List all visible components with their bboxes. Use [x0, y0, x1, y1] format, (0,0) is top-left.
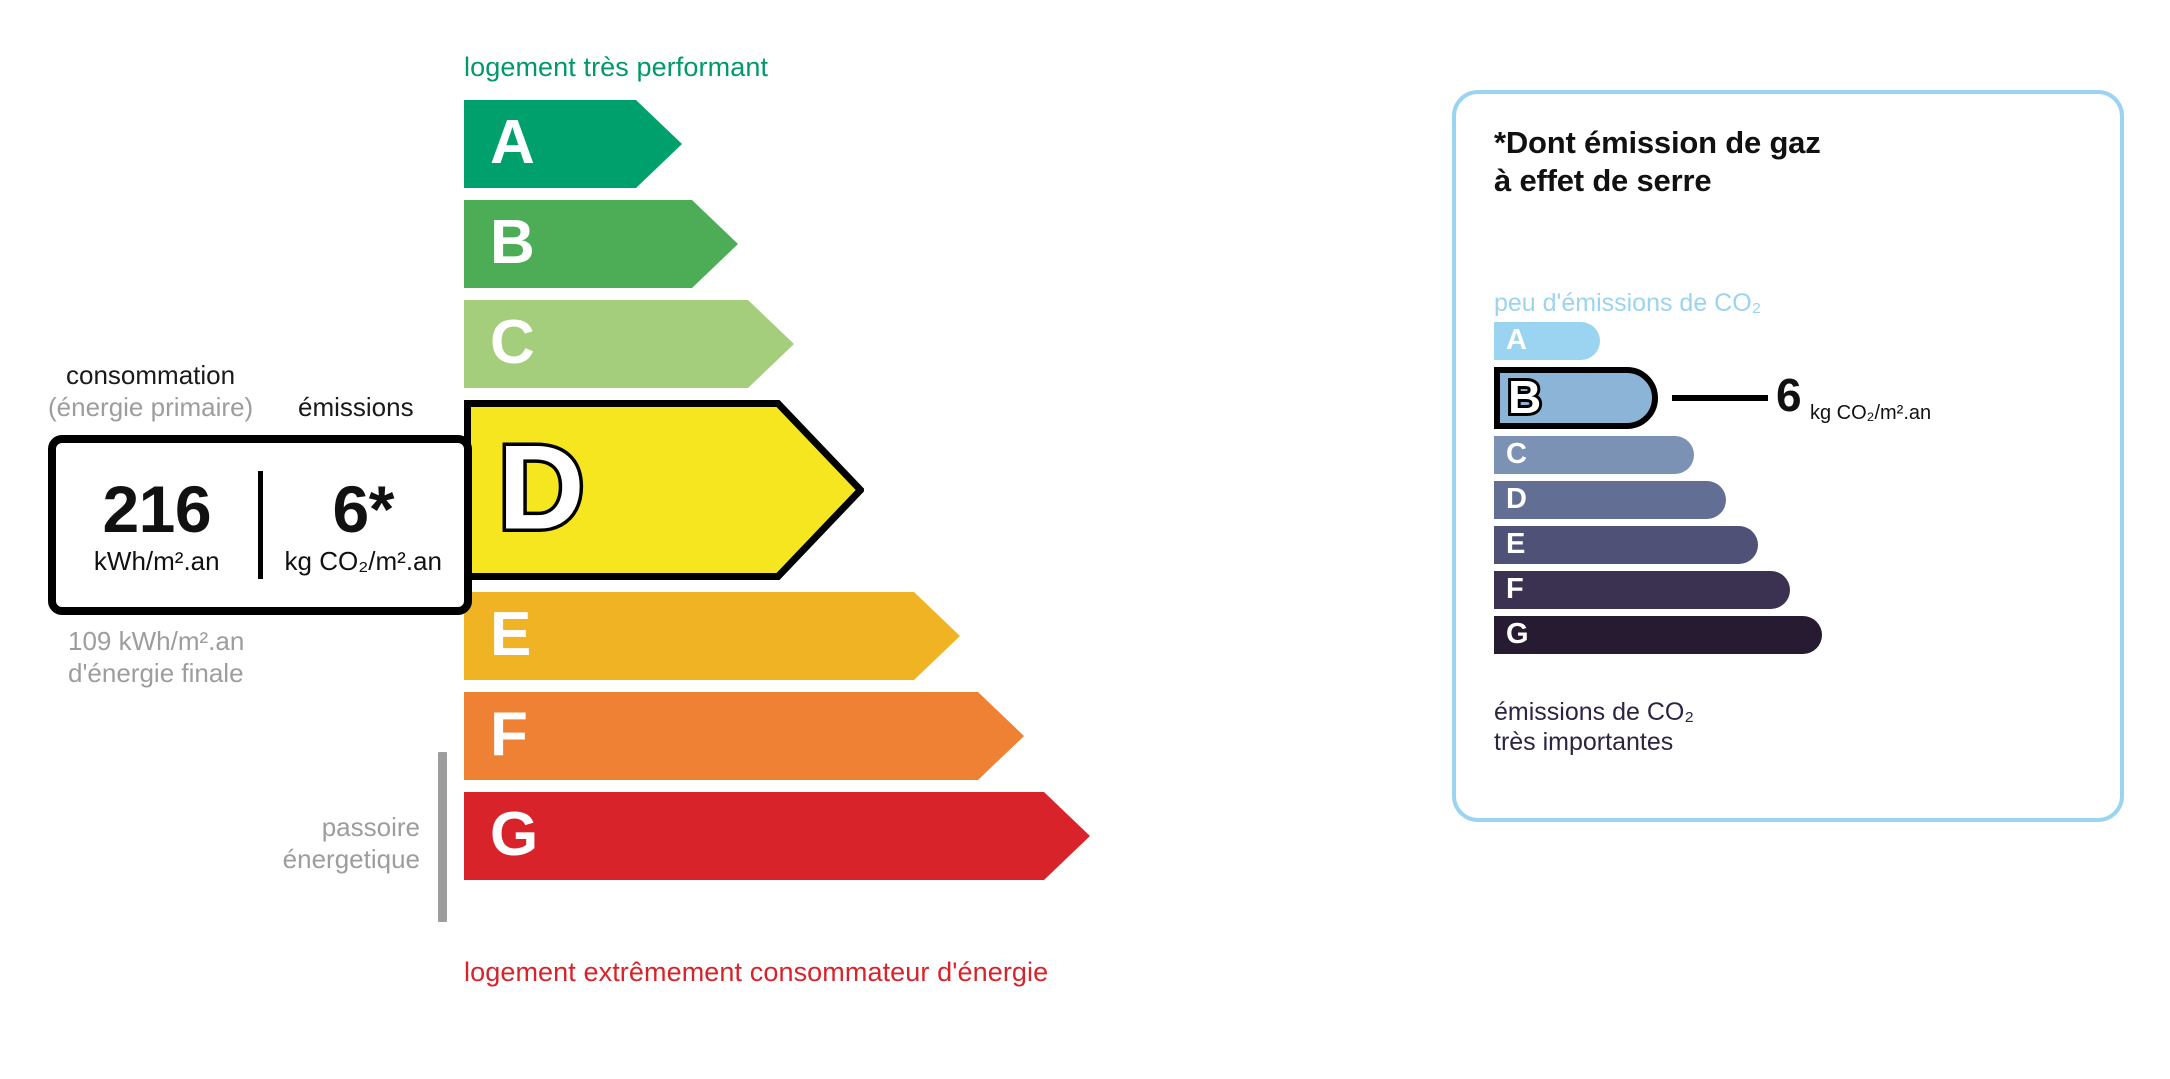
co2-grade-g: G [1494, 616, 1822, 654]
energy-grade-c: C [464, 300, 794, 388]
consumption-label: consommation [66, 360, 235, 391]
energy-bar-e [464, 592, 960, 680]
energy-performance-panel: logement très performant consommation (é… [0, 0, 1400, 1079]
passoire-bracket [438, 752, 447, 922]
energy-grade-b: B [464, 200, 738, 288]
energy-grade-d: D [464, 400, 864, 580]
final-energy-note: 109 kWh/m².and'énergie finale [68, 626, 244, 689]
energy-bottom-caption: logement extrêmement consommateur d'éner… [464, 957, 1048, 988]
emissions-label: émissions [298, 392, 414, 423]
co2-grade-f: F [1494, 571, 1790, 609]
co2-top-caption: peu d'émissions de CO₂ [1494, 289, 1761, 318]
consumption-value-cell: 216 kWh/m².an [56, 475, 258, 576]
energy-grade-f: F [464, 692, 1024, 780]
consumption-value: 216 [56, 475, 258, 544]
emission-unit: kg CO₂/m².an [263, 548, 465, 575]
greenhouse-gas-panel: *Dont émission de gazà effet de serre pe… [1452, 90, 2124, 822]
emission-value-cell: 6* kg CO₂/m².an [263, 475, 465, 576]
energy-bar-g [464, 792, 1090, 880]
co2-grade-c: C [1494, 436, 1694, 474]
co2-grade-letter-b: B [1508, 374, 1541, 420]
co2-bar-d [1494, 481, 1726, 519]
energy-grade-letter-a: A [490, 112, 535, 174]
co2-grade-letter-e: E [1506, 530, 1525, 559]
primary-energy-label: (énergie primaire) [48, 392, 253, 423]
energy-grade-letter-d: D [498, 428, 585, 548]
consumption-unit: kWh/m².an [56, 548, 258, 575]
co2-value-unit: kg CO₂/m².an [1810, 402, 1931, 425]
co2-bottom-caption: émissions de CO₂très importantes [1494, 698, 1694, 757]
co2-bar-g [1494, 616, 1822, 654]
co2-grade-letter-c: C [1506, 440, 1527, 469]
emission-value: 6* [263, 475, 465, 544]
co2-bar-e [1494, 526, 1758, 564]
co2-panel-title: *Dont émission de gazà effet de serre [1494, 124, 1821, 200]
co2-value: 6 [1776, 372, 1802, 418]
passoire-label: passoireénergetique [190, 812, 420, 875]
energy-grade-letter-e: E [490, 604, 531, 666]
energy-grade-e: E [464, 592, 960, 680]
co2-grade-b: B [1494, 367, 1658, 429]
energy-grade-letter-g: G [490, 804, 538, 866]
energy-grade-letter-b: B [490, 212, 535, 274]
energy-top-caption: logement très performant [464, 52, 768, 83]
co2-grade-d: D [1494, 481, 1726, 519]
co2-grade-a: A [1494, 322, 1600, 360]
energy-grade-a: A [464, 100, 682, 188]
energy-bar-f [464, 692, 1024, 780]
co2-grade-letter-g: G [1506, 620, 1529, 649]
value-box-labels: consommation (énergie primaire) émission… [0, 360, 470, 434]
co2-grade-letter-d: D [1506, 485, 1527, 514]
co2-grade-letter-a: A [1506, 326, 1527, 355]
co2-leader-line [1672, 395, 1768, 401]
energy-value-box: 216 kWh/m².an 6* kg CO₂/m².an [48, 435, 472, 615]
co2-grade-e: E [1494, 526, 1758, 564]
energy-grade-letter-c: C [490, 312, 535, 374]
co2-bar-f [1494, 571, 1790, 609]
energy-grade-letter-f: F [490, 704, 528, 766]
energy-grade-g: G [464, 792, 1090, 880]
co2-grade-letter-f: F [1506, 575, 1524, 604]
